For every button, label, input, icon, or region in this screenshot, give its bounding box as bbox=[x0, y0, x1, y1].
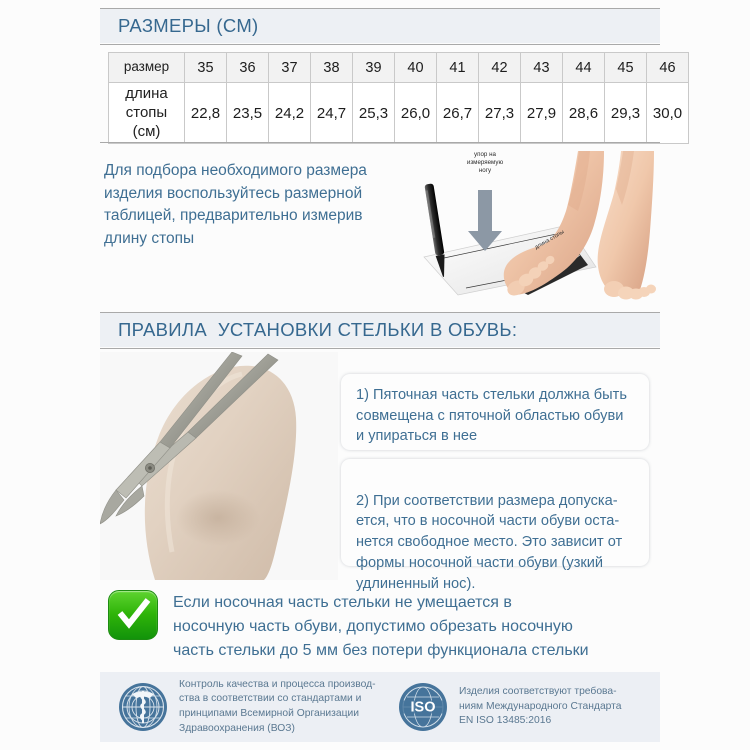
size-cell-3: 38 bbox=[311, 53, 353, 83]
iso-logo-icon: ISO bbox=[398, 682, 448, 732]
length-cell-8: 27,9 bbox=[521, 83, 563, 144]
length-cell-7: 27,3 bbox=[479, 83, 521, 144]
length-cell-10: 29,3 bbox=[605, 83, 647, 144]
trim-allowed-text: Если носочная часть стельки не умещается… bbox=[158, 590, 589, 663]
size-cell-10: 45 bbox=[605, 53, 647, 83]
size-cell-2: 37 bbox=[269, 53, 311, 83]
size-table: размер 35 36 37 38 39 40 41 42 43 44 45 … bbox=[108, 52, 689, 144]
measure-instruction-text: Для подбора необходимого размера изделия… bbox=[104, 160, 414, 251]
instruction-card-2: 2) При соответствии размера допуска- етс… bbox=[341, 459, 649, 566]
table-row-sizes: размер 35 36 37 38 39 40 41 42 43 44 45 … bbox=[109, 53, 689, 83]
foot-measurement-illustration: упор на измеряемую ногу длина стопы bbox=[418, 145, 656, 300]
length-cell-4: 25,3 bbox=[353, 83, 395, 144]
size-cell-4: 39 bbox=[353, 53, 395, 83]
divider-under-install-header bbox=[100, 348, 660, 349]
size-cell-5: 40 bbox=[395, 53, 437, 83]
certification-footer: Контроль качества и процесса производ- с… bbox=[100, 672, 660, 742]
instruction-text-1: 1) Пяточная часть стельки должна быть со… bbox=[356, 387, 627, 444]
table-row-foot-length: длина стопы (см) 22,8 23,5 24,2 24,7 25,… bbox=[109, 83, 689, 144]
row-label-foot-length: длина стопы (см) bbox=[109, 83, 185, 144]
trim-allowed-note: Если носочная часть стельки не умещается… bbox=[108, 590, 653, 663]
who-certification: Контроль качества и процесса производ- с… bbox=[118, 678, 390, 736]
instruction-card-1: 1) Пяточная часть стельки должна быть со… bbox=[341, 374, 649, 450]
instruction-text-2: 2) При соответствии размера допуска- етс… bbox=[356, 493, 622, 592]
divider-under-sizes-header bbox=[100, 44, 660, 45]
size-cell-11: 46 bbox=[647, 53, 689, 83]
insole-trimming-illustration bbox=[100, 352, 338, 580]
size-cell-6: 41 bbox=[437, 53, 479, 83]
length-cell-9: 28,6 bbox=[563, 83, 605, 144]
install-header-label: ПРАВИЛА УСТАНОВКИ СТЕЛЬКИ В ОБУВЬ: bbox=[100, 319, 517, 341]
iso-certification: ISO Изделия соответствуют требова- ниям … bbox=[398, 682, 656, 732]
length-cell-3: 24,7 bbox=[311, 83, 353, 144]
length-cell-6: 26,7 bbox=[437, 83, 479, 144]
checkmark-icon bbox=[108, 590, 158, 640]
length-cell-1: 23,5 bbox=[227, 83, 269, 144]
length-cell-5: 26,0 bbox=[395, 83, 437, 144]
size-cell-7: 42 bbox=[479, 53, 521, 83]
iso-logo-text: ISO bbox=[411, 700, 436, 716]
sizes-section-header: РАЗМЕРЫ (СМ) bbox=[100, 9, 660, 43]
iso-certification-text: Изделия соответствуют требова- ниям Межд… bbox=[448, 685, 622, 729]
divider-under-table bbox=[100, 142, 660, 143]
size-cell-9: 44 bbox=[563, 53, 605, 83]
size-cell-8: 43 bbox=[521, 53, 563, 83]
install-section-header: ПРАВИЛА УСТАНОВКИ СТЕЛЬКИ В ОБУВЬ: bbox=[100, 313, 660, 347]
size-guide-page: РАЗМЕРЫ (СМ) размер 35 36 37 38 39 40 41… bbox=[0, 0, 750, 750]
sizes-header-label: РАЗМЕРЫ (СМ) bbox=[100, 15, 259, 37]
length-cell-11: 30,0 bbox=[647, 83, 689, 144]
length-cell-2: 24,2 bbox=[269, 83, 311, 144]
size-cell-1: 36 bbox=[227, 53, 269, 83]
who-certification-text: Контроль качества и процесса производ- с… bbox=[168, 678, 376, 736]
length-cell-0: 22,8 bbox=[185, 83, 227, 144]
arrow-annotation-label: упор на измеряемую ногу bbox=[452, 151, 518, 175]
row-label-size: размер bbox=[109, 53, 185, 83]
size-cell-0: 35 bbox=[185, 53, 227, 83]
who-logo-icon bbox=[118, 682, 168, 732]
